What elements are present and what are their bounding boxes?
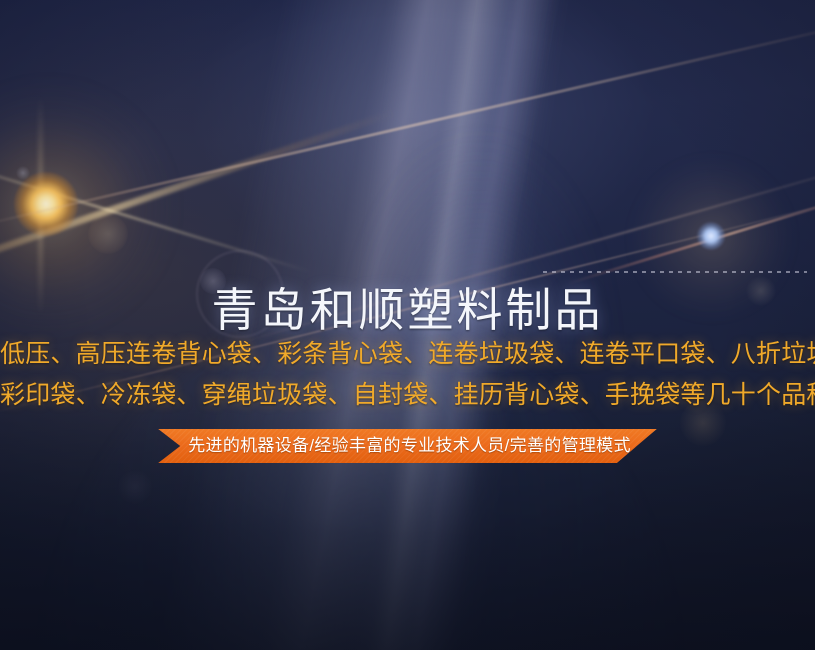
- product-list: 低压、高压连卷背心袋、彩条背心袋、连卷垃圾袋、连卷平口袋、八折垃圾袋、 彩印袋、…: [0, 334, 815, 416]
- promo-banner: 青岛和顺塑料制品 低压、高压连卷背心袋、彩条背心袋、连卷垃圾袋、连卷平口袋、八折…: [0, 0, 815, 650]
- banner-content: 青岛和顺塑料制品 低压、高压连卷背心袋、彩条背心袋、连卷垃圾袋、连卷平口袋、八折…: [0, 0, 815, 650]
- tagline-ribbon: 先进的机器设备/经验丰富的专业技术人员/完善的管理模式: [158, 429, 657, 463]
- company-title: 青岛和顺塑料制品: [0, 281, 815, 339]
- product-list-line-1: 低压、高压连卷背心袋、彩条背心袋、连卷垃圾袋、连卷平口袋、八折垃圾袋、: [0, 334, 815, 375]
- tagline-ribbon-wrapper: 先进的机器设备/经验丰富的专业技术人员/完善的管理模式: [0, 428, 815, 464]
- product-list-line-2: 彩印袋、冷冻袋、穿绳垃圾袋、自封袋、挂历背心袋、手挽袋等几十个品种: [0, 375, 815, 416]
- tagline-ribbon-text: 先进的机器设备/经验丰富的专业技术人员/完善的管理模式: [188, 429, 631, 463]
- dotted-divider-rule: [543, 271, 807, 273]
